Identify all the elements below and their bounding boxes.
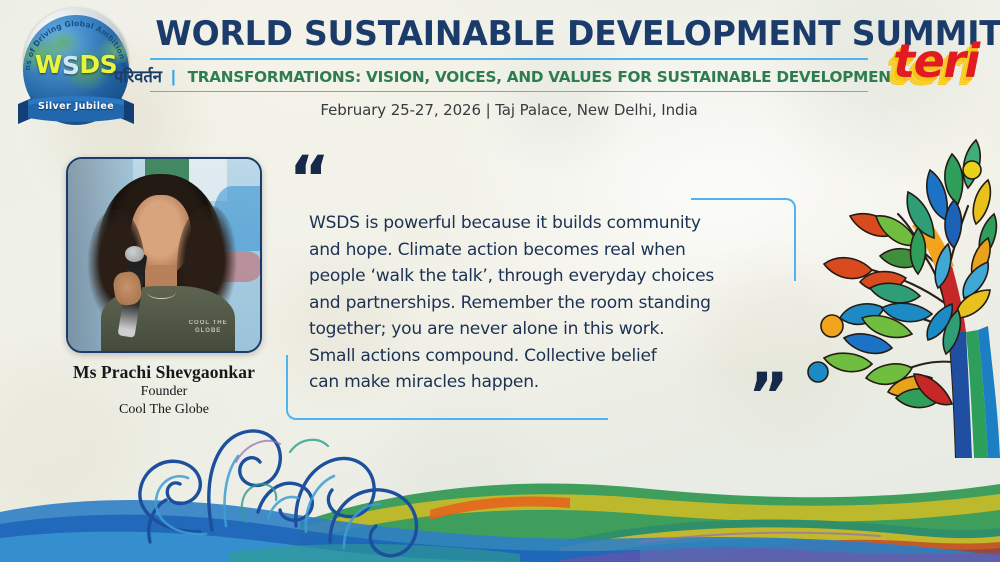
speaker-role: Founder (58, 383, 270, 401)
summit-main-title: WORLD SUSTAINABLE DEVELOPMENT SUMMIT 202… (155, 16, 862, 52)
subtitle-hindi: परिवर्तन (114, 64, 162, 87)
opening-quote-icon: “ (289, 148, 328, 210)
poster-canvas: 25 Editions of Driving Global Ambition a… (0, 0, 1000, 562)
subtitle-separator: | (171, 67, 176, 87)
quote-text: WSDS is powerful because it builds commu… (309, 210, 779, 396)
speaker-photo: COOL THE GLOBE (68, 159, 260, 351)
photo-necklace (147, 286, 176, 299)
speaker-organization: Cool The Globe (58, 401, 270, 419)
emblem-ribbon-banner: Silver Jubilee (16, 94, 136, 128)
speaker-photo-frame: COOL THE GLOBE (66, 157, 262, 353)
emblem-acronym-w: W (35, 50, 62, 79)
subtitle-english: TRANSFORMATIONS: VISION, VOICES, AND VAL… (187, 68, 900, 86)
closing-quote-icon: ” (748, 365, 787, 427)
header-title-block: WORLD SUSTAINABLE DEVELOPMENT SUMMIT 202… (150, 16, 868, 119)
emblem-acronym-ds: DS (79, 50, 117, 79)
emblem-banner-label: Silver Jubilee (16, 101, 136, 112)
teri-logo-text: teri (888, 38, 984, 84)
speaker-name: Ms Prachi Shevgaonkar (58, 362, 270, 383)
summit-subtitle-row: परिवर्तन | TRANSFORMATIONS: VISION, VOIC… (150, 60, 868, 91)
date-and-venue: February 25-27, 2026 | Taj Palace, New D… (150, 92, 868, 119)
emblem-acronym-globe-letter: S (62, 53, 80, 78)
quote-block: “ WSDS is powerful because it builds com… (286, 160, 806, 425)
photo-microphone-head (125, 246, 144, 261)
teri-logo: teri (888, 38, 984, 102)
speaker-block: COOL THE GLOBE Ms Prachi Shevgaonkar Fou… (58, 157, 270, 419)
emblem-acronym: WSDS (24, 52, 128, 77)
photo-tshirt-text: COOL THE GLOBE (176, 320, 241, 335)
poster-header: 25 Editions of Driving Global Ambition a… (0, 0, 1000, 142)
